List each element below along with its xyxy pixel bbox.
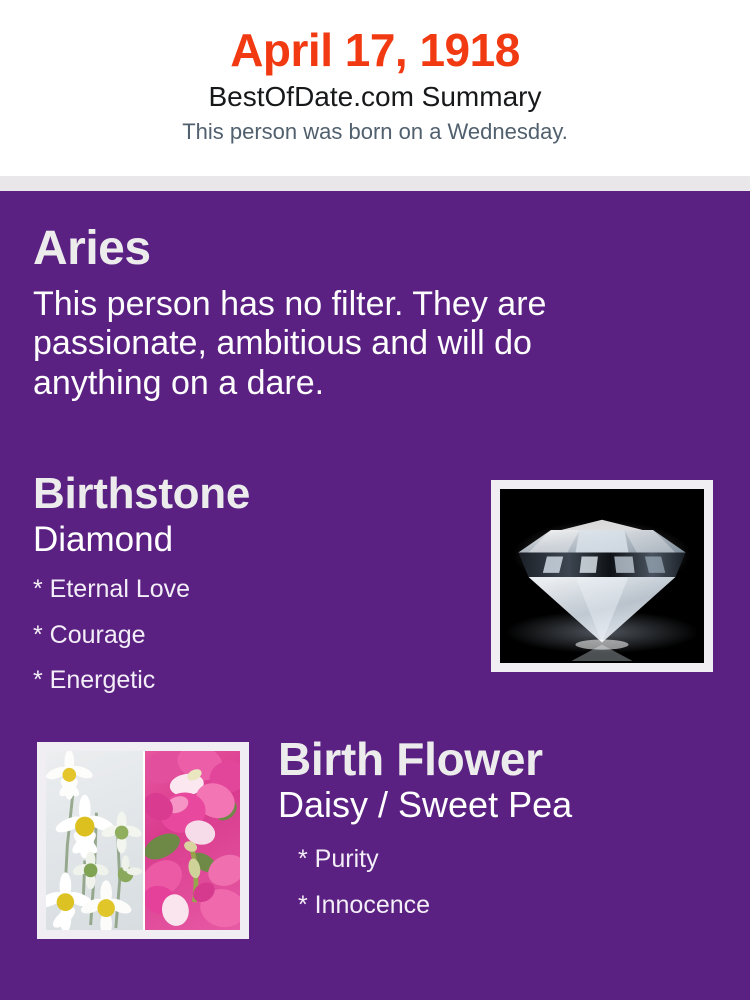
birthstone-image-frame bbox=[491, 480, 713, 672]
sweet-pea-photo-half bbox=[143, 751, 240, 930]
summary-card: April 17, 1918 BestOfDate.com Summary Th… bbox=[0, 0, 750, 1000]
birthflower-trait-list: * Purity * Innocence bbox=[278, 823, 718, 928]
birthstone-section: Birthstone Diamond * Eternal Love * Cour… bbox=[33, 472, 463, 704]
birthstone-name: Diamond bbox=[33, 516, 463, 557]
diamond-icon bbox=[500, 489, 704, 663]
content-panel: Aries This person has no filter. They ar… bbox=[0, 191, 750, 1000]
list-item: * Energetic bbox=[33, 658, 463, 704]
list-item: * Eternal Love bbox=[33, 567, 463, 613]
list-item: * Innocence bbox=[298, 883, 718, 929]
daisy-sweet-pea-photo bbox=[46, 751, 240, 930]
header-divider bbox=[0, 176, 750, 191]
list-item: * Purity bbox=[298, 837, 718, 883]
birthstone-trait-list: * Eternal Love * Courage * Energetic bbox=[33, 557, 463, 704]
daisy-flower-icon bbox=[46, 751, 143, 930]
birth-weekday-note: This person was born on a Wednesday. bbox=[0, 113, 750, 144]
zodiac-sign-name: Aries bbox=[33, 225, 653, 273]
birthflower-heading: Birth Flower bbox=[278, 736, 718, 782]
zodiac-section: Aries This person has no filter. They ar… bbox=[33, 225, 653, 403]
daisy-photo-half bbox=[46, 751, 143, 930]
birthstone-heading: Birthstone bbox=[33, 472, 463, 516]
sweet-pea-flower-icon bbox=[145, 751, 240, 930]
card-header: April 17, 1918 BestOfDate.com Summary Th… bbox=[0, 0, 750, 176]
diamond-photo bbox=[500, 489, 704, 663]
birthflower-name: Daisy / Sweet Pea bbox=[278, 782, 718, 823]
zodiac-description: This person has no filter. They are pass… bbox=[33, 273, 648, 403]
birthflower-image-frame bbox=[37, 742, 249, 939]
birthflower-section: Birth Flower Daisy / Sweet Pea * Purity … bbox=[278, 736, 718, 928]
list-item: * Courage bbox=[33, 613, 463, 659]
site-subtitle: BestOfDate.com Summary bbox=[0, 74, 750, 113]
page-title: April 17, 1918 bbox=[0, 0, 750, 74]
